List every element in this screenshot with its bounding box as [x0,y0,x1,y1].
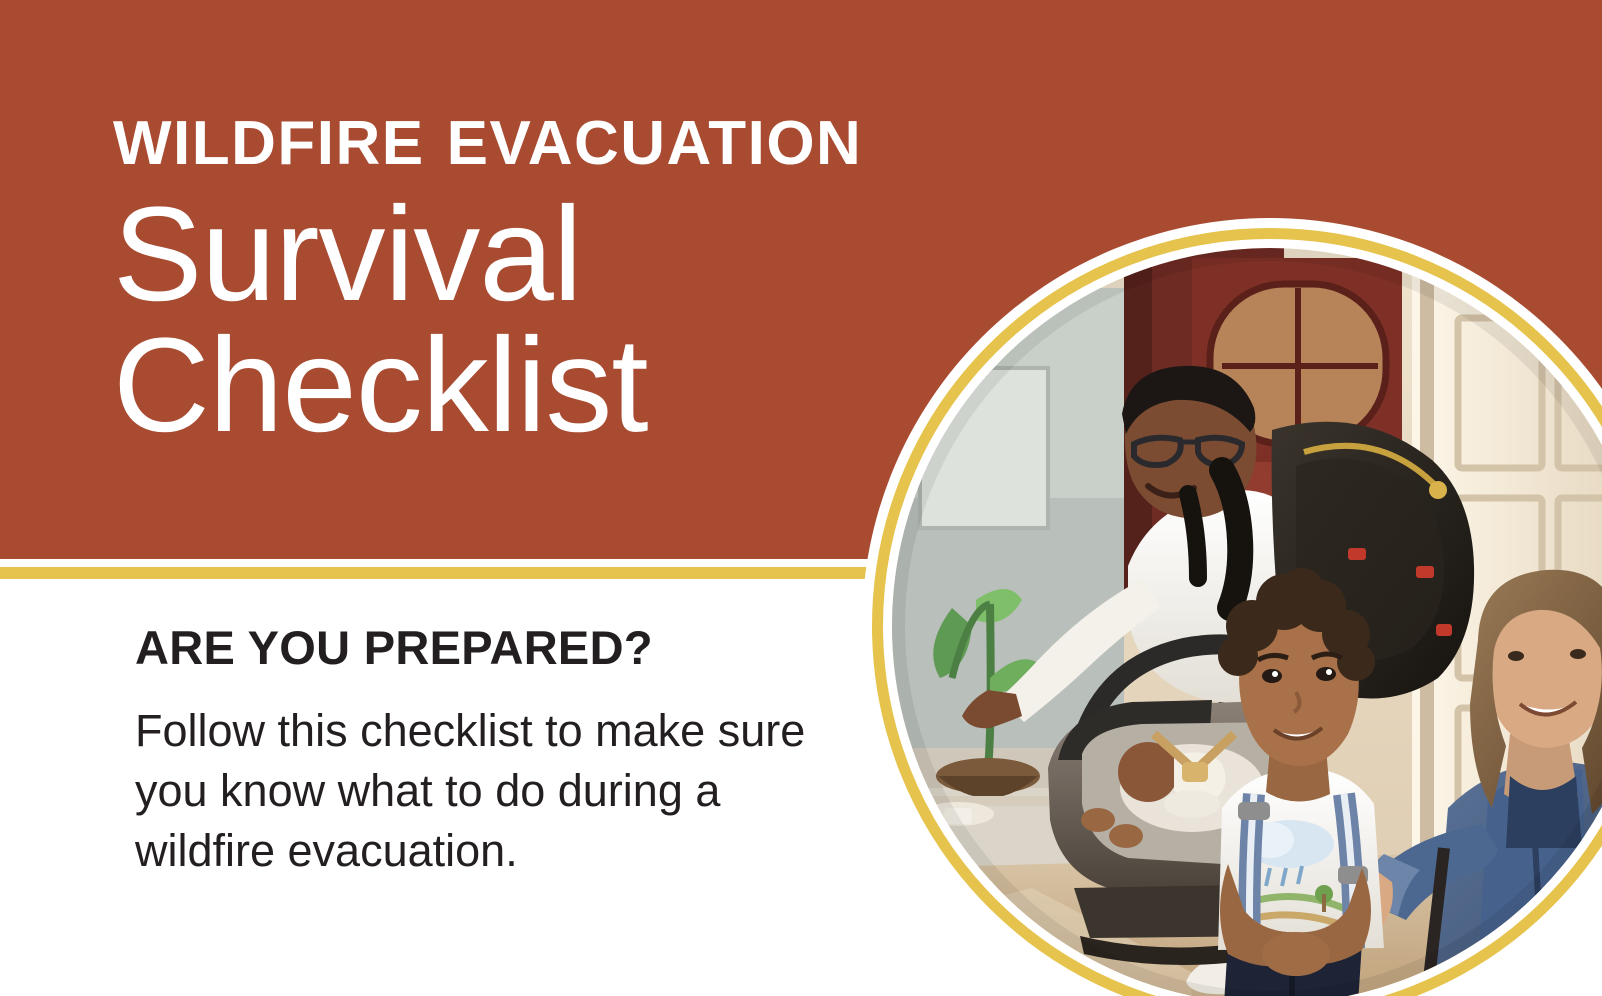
photo-gold-ring [872,228,1602,996]
subheading-are-you-prepared: ARE YOU PREPARED? [135,624,835,671]
body-paragraph: Follow this checklist to make sure you k… [135,701,825,881]
poster-root: WILDFIREEVACUATION Survival Checklist AR… [0,0,1602,996]
gold-divider-rule [0,567,868,579]
intro-copy-group: ARE YOU PREPARED? Follow this checklist … [135,624,835,881]
